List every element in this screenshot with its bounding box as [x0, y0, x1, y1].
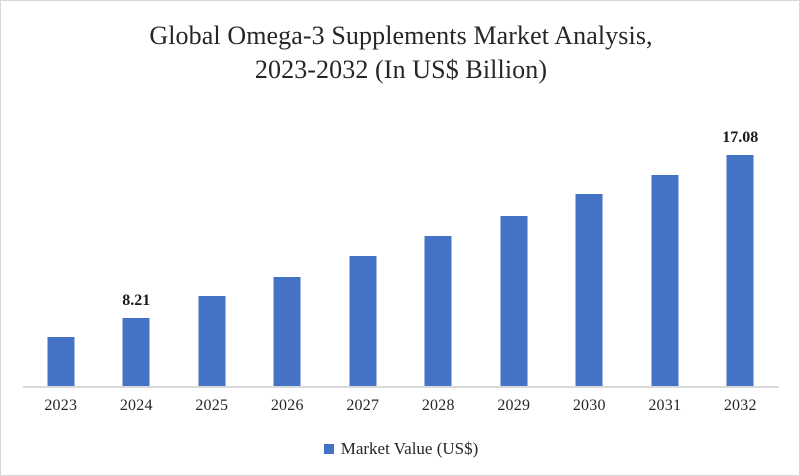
bar-2030[interactable] — [576, 194, 603, 386]
x-tick-2028: 2028 — [401, 397, 477, 415]
legend-label-market-value: Market Value (US$) — [341, 439, 479, 459]
bar-2026[interactable] — [274, 277, 301, 386]
x-tick-2026: 2026 — [250, 397, 326, 415]
x-axis-labels: 2023 2024 2025 2026 2027 2028 2029 2030 … — [1, 397, 800, 423]
bar-2029[interactable] — [500, 216, 527, 386]
bar-2027[interactable] — [349, 256, 376, 386]
x-tick-2025: 2025 — [174, 397, 250, 415]
bar-2025[interactable] — [198, 296, 225, 386]
x-tick-2029: 2029 — [476, 397, 552, 415]
x-tick-2030: 2030 — [552, 397, 628, 415]
chart-figure: Global Omega-3 Supplements Market Analys… — [0, 0, 800, 476]
legend-swatch-icon — [324, 444, 334, 454]
x-tick-2024: 2024 — [99, 397, 175, 415]
x-tick-2032: 2032 — [703, 397, 779, 415]
x-tick-2027: 2027 — [325, 397, 401, 415]
x-tick-2031: 2031 — [627, 397, 703, 415]
bar-label-2032: 17.08 — [722, 129, 758, 147]
bar-2028[interactable] — [425, 236, 452, 386]
bar-2032[interactable] — [727, 155, 754, 386]
bar-2031[interactable] — [651, 175, 678, 386]
bar-2023[interactable] — [47, 337, 74, 386]
bar-label-2024: 8.21 — [122, 292, 150, 310]
bar-2024[interactable] — [123, 318, 150, 386]
x-tick-2023: 2023 — [23, 397, 99, 415]
chart-legend: Market Value (US$) — [1, 439, 800, 459]
x-axis-line — [23, 386, 779, 388]
